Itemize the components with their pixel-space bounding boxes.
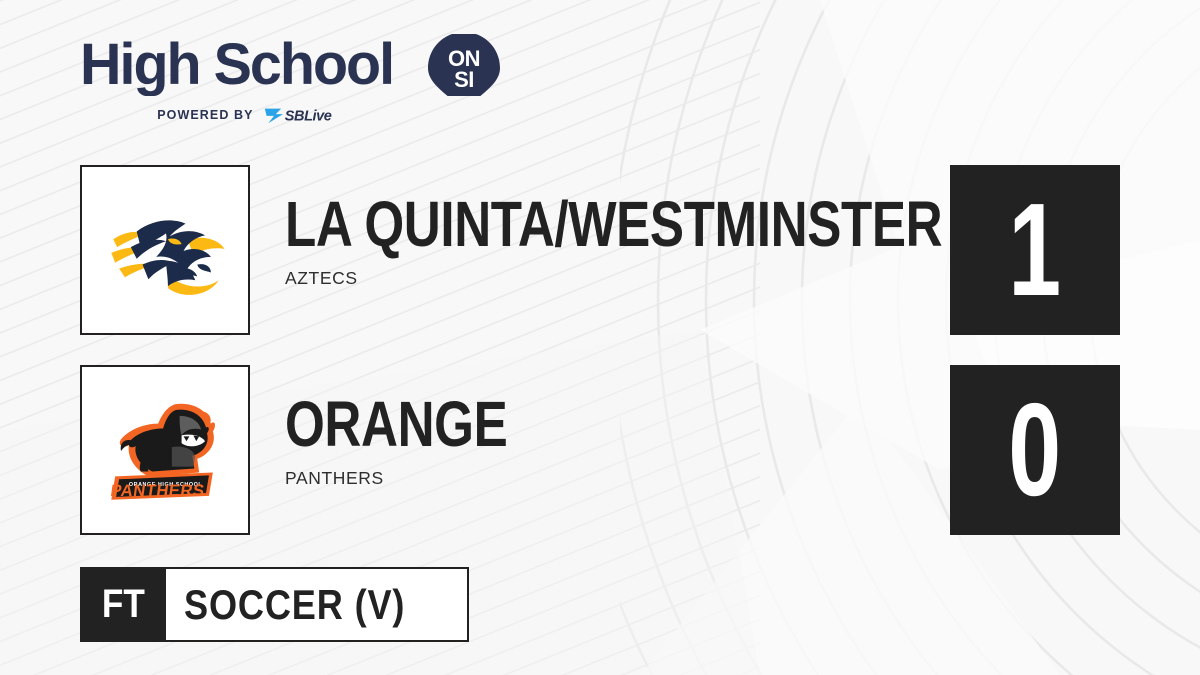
svg-text:SBLive: SBLive	[284, 108, 331, 124]
team-name: LA QUINTA/WESTMINSTER	[285, 195, 845, 254]
aztecs-eagle-logo	[82, 167, 248, 333]
team-score: 1	[1009, 184, 1062, 316]
team-info: ORANGE PANTHERS	[285, 395, 985, 489]
team-info: LA QUINTA/WESTMINSTER AZTECS	[285, 195, 985, 289]
team-score: 0	[1009, 384, 1062, 516]
team-logo-box	[80, 165, 250, 335]
brand-header: High School ON SI POWERED BY SBLive	[80, 34, 510, 134]
team-name: ORANGE	[285, 395, 845, 454]
team-mascot: AZTECS	[285, 268, 985, 289]
status-badge: FT	[80, 567, 166, 642]
team-row: ORANGE HIGH SCHOOL PANTHERS ORANGE PANTH…	[80, 365, 1120, 535]
powered-by-label: POWERED BY	[157, 108, 253, 122]
sport-label-box: SOCCER (V)	[166, 567, 469, 642]
team-score-box: 0	[950, 365, 1120, 535]
svg-text:SI: SI	[454, 67, 474, 92]
status-code-label: FT	[101, 582, 144, 627]
sblive-logo: SBLive	[263, 105, 361, 125]
team-row: LA QUINTA/WESTMINSTER AZTECS 1	[80, 165, 1120, 335]
high-school-wordmark: High School ON SI	[80, 34, 500, 96]
svg-text:High School: High School	[80, 34, 393, 96]
panthers-logo: ORANGE HIGH SCHOOL PANTHERS	[82, 367, 248, 533]
team-mascot: PANTHERS	[285, 468, 985, 489]
game-status-bar: FT SOCCER (V)	[80, 567, 469, 642]
team-score-box: 1	[950, 165, 1120, 335]
onsi-pin-icon: ON SI	[428, 34, 500, 96]
team-logo-box: ORANGE HIGH SCHOOL PANTHERS	[80, 365, 250, 535]
svg-text:PANTHERS: PANTHERS	[109, 481, 206, 500]
sport-label: SOCCER (V)	[184, 581, 405, 629]
